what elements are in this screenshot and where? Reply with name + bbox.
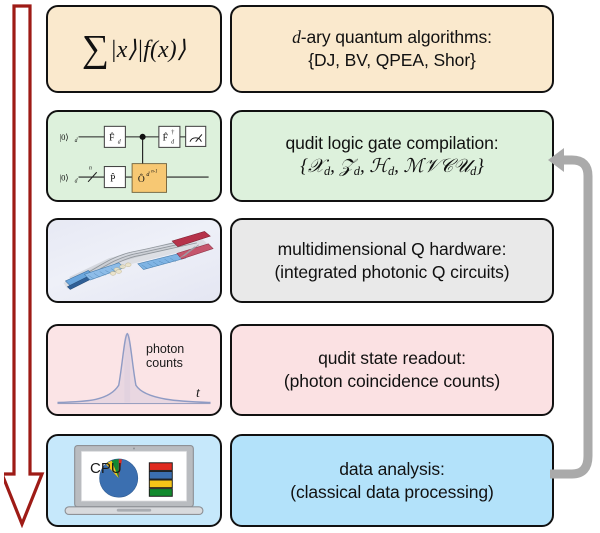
analysis-title: data analysis: <box>290 458 494 481</box>
ket-expression: |x⟩|f(x)⟩ <box>110 35 186 64</box>
algorithms-title: d-ary quantum algorithms: <box>292 26 492 49</box>
readout-label-box: qudit state readout: (photon coincidence… <box>230 324 554 416</box>
svg-text:n-1: n-1 <box>151 170 157 175</box>
photonic-chip-render <box>48 220 220 301</box>
d-symbol: d <box>292 27 301 47</box>
quantum-circuit-diagram: |0⟩ d |0⟩ d n F̂ d F̂ d † P̂ <box>48 112 220 200</box>
algorithms-list: {DJ, BV, QPEA, Shor} <box>292 49 492 72</box>
analysis-label-box: data analysis: (classical data processin… <box>230 434 554 527</box>
photon-counts-plot-panel: photon counts t <box>46 324 222 416</box>
photonic-chip-panel <box>46 218 222 303</box>
algorithms-title-rest: -ary quantum algorithms: <box>301 27 492 47</box>
svg-text:†: † <box>171 129 174 136</box>
sigma-icon: ∑ <box>82 34 109 64</box>
photon-counts-plot <box>48 326 220 414</box>
svg-text:n: n <box>89 165 92 171</box>
svg-text:|0⟩: |0⟩ <box>59 132 68 142</box>
svg-text:d: d <box>171 140 174 146</box>
quantum-circuit-panel: |0⟩ d |0⟩ d n F̂ d F̂ d † P̂ <box>46 110 222 202</box>
hardware-label-box: multidimensional Q hardware: (integrated… <box>230 218 554 303</box>
compilation-title: qudit logic gate compilation: <box>285 132 498 155</box>
svg-text:F̂: F̂ <box>109 131 114 144</box>
gate-set-list: {𝒳d, 𝒵d, ℋd, ℳ𝒱𝒞𝒰d} <box>285 155 498 180</box>
photon-counts-label: photon counts <box>146 342 184 370</box>
analysis-subtitle: (classical data processing) <box>290 481 494 504</box>
svg-text:d: d <box>75 138 78 144</box>
feedback-loop-arrow <box>548 138 600 482</box>
hardware-title: multidimensional Q hardware: <box>274 238 509 261</box>
svg-text:d: d <box>118 140 121 146</box>
gate-x: 𝒳d <box>308 156 330 177</box>
data-analysis-panel: CPU 0 1 2 3 <box>46 434 222 527</box>
svg-text:F̂: F̂ <box>163 131 168 144</box>
gate-h: ℋd <box>369 156 394 177</box>
algorithms-label-box: d-ary quantum algorithms: {DJ, BV, QPEA,… <box>230 5 554 93</box>
readout-subtitle: (photon coincidence counts) <box>284 370 500 393</box>
gate-z: 𝒵d <box>339 156 360 177</box>
time-axis-label: t <box>196 386 200 402</box>
svg-text:|0⟩: |0⟩ <box>59 172 68 182</box>
downward-progression-arrow <box>4 4 48 528</box>
readout-title: qudit state readout: <box>284 347 500 370</box>
sum-formula: ∑ |x⟩|f(x)⟩ <box>48 7 220 91</box>
svg-text:d: d <box>75 178 78 184</box>
qudit-stack-figure: ∑ |x⟩|f(x)⟩ d-ary quantum algorithms: {D… <box>0 0 600 532</box>
svg-text:Ô: Ô <box>138 173 145 185</box>
gate-mvcu: ℳ𝒱𝒞𝒰d <box>403 156 476 177</box>
compilation-label-box: qudit logic gate compilation: {𝒳d, 𝒵d, ℋ… <box>230 110 554 202</box>
laptop-illustration <box>48 436 220 525</box>
hardware-subtitle: (integrated photonic Q circuits) <box>274 261 509 284</box>
algorithm-formula-panel: ∑ |x⟩|f(x)⟩ <box>46 5 222 93</box>
svg-text:P̂: P̂ <box>110 171 115 184</box>
cpu-label: CPU <box>90 460 122 477</box>
